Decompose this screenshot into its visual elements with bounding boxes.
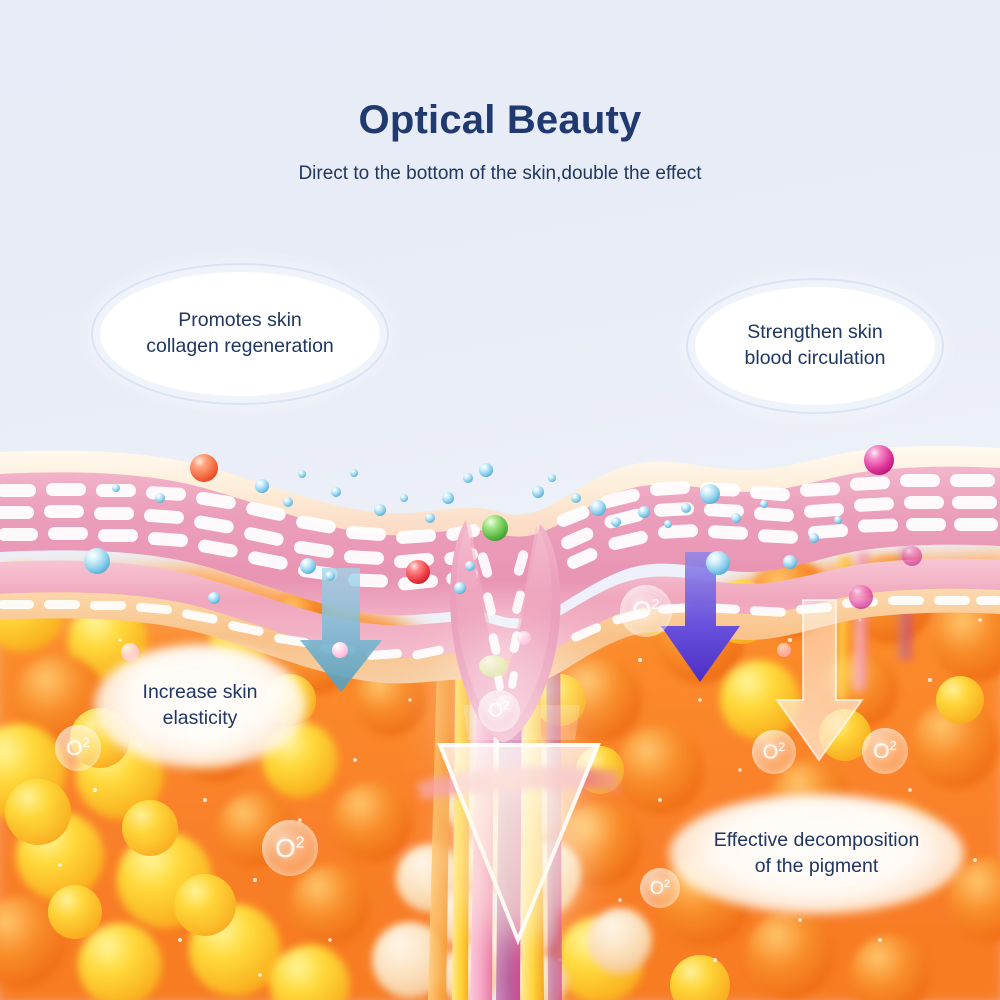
sphere-magenta — [864, 445, 894, 475]
callout-line-2: elasticity — [163, 707, 238, 729]
oxygen-bubble: O2 — [478, 690, 520, 732]
callout-line-1: Effective decomposition — [714, 829, 920, 851]
callout-strengthen-blood-circulation: Strengthen skin blood circulation — [695, 287, 935, 405]
sphere-green — [482, 515, 508, 541]
oxygen-bubble: O2 — [55, 725, 101, 771]
oxygen-bubble: O2 — [262, 820, 318, 876]
oxygen-bubble: O2 — [640, 868, 680, 908]
oxygen-bubble: O2 — [862, 728, 908, 774]
oxygen-bubble: O2 — [752, 730, 796, 774]
optical-beauty-infographic: Optical Beauty Direct to the bottom of t… — [0, 0, 1000, 1000]
callout-increase-elasticity: Increase skin elasticity — [100, 650, 300, 762]
page-subtitle: Direct to the bottom of the skin,double … — [0, 143, 1000, 185]
callout-promotes-collagen: Promotes skin collagen regeneration — [100, 272, 380, 396]
header-block: Optical Beauty Direct to the bottom of t… — [0, 0, 1000, 185]
sphere-orange — [190, 454, 218, 482]
sphere-red — [406, 560, 430, 584]
callout-line-1: Promotes skin — [178, 309, 302, 331]
callout-line-2: blood circulation — [745, 347, 886, 369]
callout-line-1: Strengthen skin — [747, 321, 883, 343]
sphere-blue-large — [84, 548, 110, 574]
callout-effective-decomposition: Effective decomposition of the pigment — [675, 800, 958, 908]
oxygen-bubble: O2 — [620, 585, 672, 637]
callout-line-1: Increase skin — [143, 681, 258, 703]
callout-line-2: of the pigment — [755, 855, 879, 877]
callout-line-2: collagen regeneration — [146, 335, 334, 357]
page-title: Optical Beauty — [0, 0, 1000, 143]
